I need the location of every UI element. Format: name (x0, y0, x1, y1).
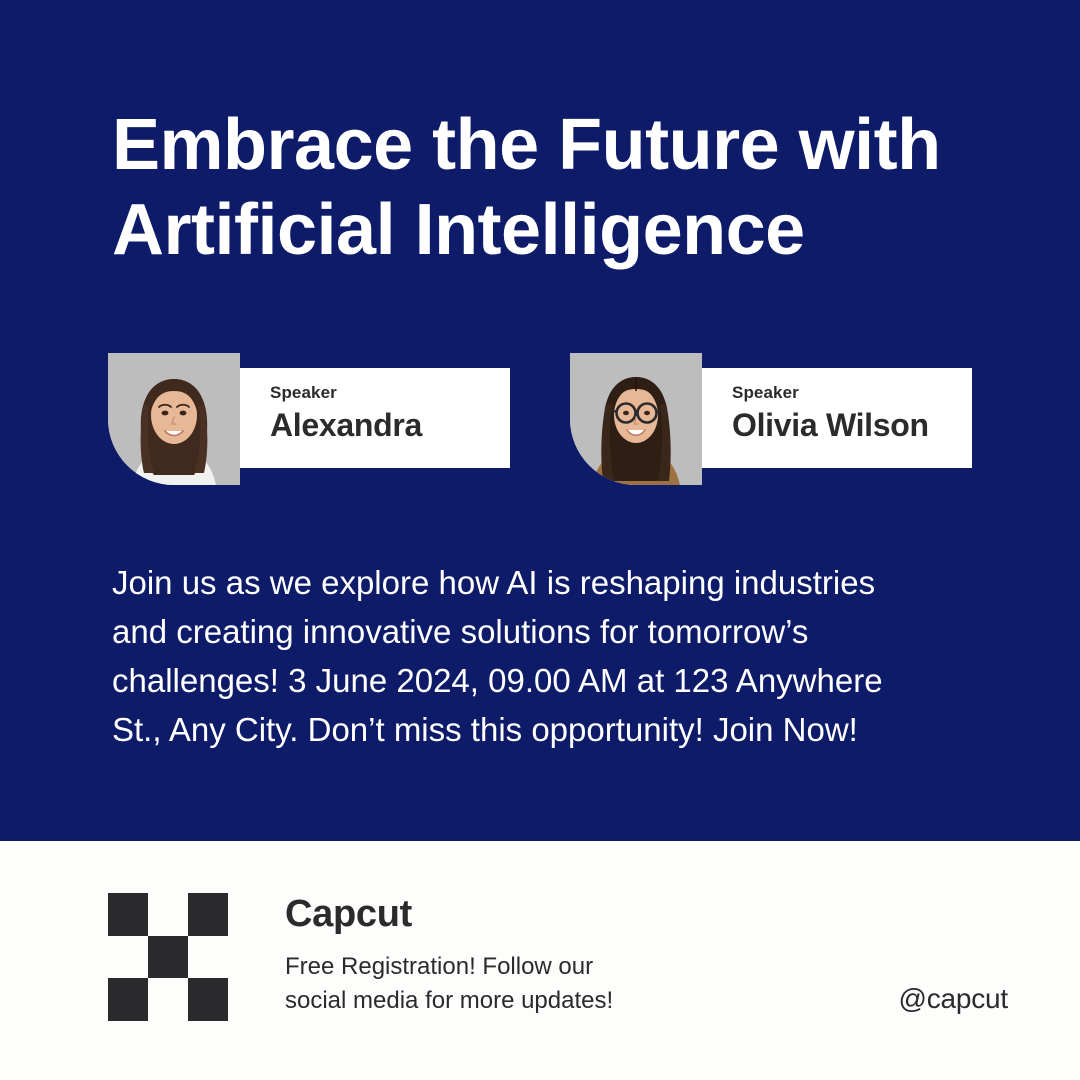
tagline-line-2: social media for more updates! (285, 984, 755, 1018)
logo-cell-6 (188, 936, 228, 979)
speaker-card-olivia-wilson: Speaker Olivia Wilson (570, 353, 972, 486)
speaker-info-panel-olivia-wilson: Speaker Olivia Wilson (700, 368, 972, 468)
checkerboard-x-logo-icon (108, 893, 228, 1021)
speaker-name: Alexandra (270, 407, 510, 444)
headline-line-1: Embrace the Future with (112, 103, 1012, 188)
logo-cell-5 (148, 936, 188, 979)
logo-cell-3 (188, 893, 228, 936)
brand-block: Capcut Free Registration! Follow our soc… (285, 893, 755, 1018)
avatar-alexandra (108, 353, 240, 485)
logo-cell-7 (108, 978, 148, 1021)
logo-cell-9 (188, 978, 228, 1021)
event-poster: Embrace the Future with Artificial Intel… (0, 0, 1080, 1080)
logo-cell-8 (148, 978, 188, 1021)
tagline-line-1: Free Registration! Follow our (285, 950, 755, 984)
speaker-name: Olivia Wilson (732, 407, 972, 444)
page-title: Embrace the Future with Artificial Intel… (112, 103, 1012, 273)
speaker-card-alexandra: Speaker Alexandra (108, 353, 510, 486)
social-handle[interactable]: @capcut (898, 983, 1008, 1015)
speaker-list: Speaker Alexandra (0, 353, 1080, 493)
description-line-1: Join us as we explore how AI is reshapin… (112, 558, 992, 607)
description-line-3: challenges! 3 June 2024, 09.00 AM at 123… (112, 656, 992, 705)
speaker-role-label: Speaker (270, 384, 510, 403)
footer-bar: Capcut Free Registration! Follow our soc… (0, 841, 1080, 1080)
avatar-olivia-wilson (570, 353, 702, 485)
event-description: Join us as we explore how AI is reshapin… (112, 558, 992, 754)
brand-tagline: Free Registration! Follow our social med… (285, 950, 755, 1018)
brand-name: Capcut (285, 893, 755, 936)
speaker-info-panel-alexandra: Speaker Alexandra (238, 368, 510, 468)
description-line-2: and creating innovative solutions for to… (112, 607, 992, 656)
speaker-role-label: Speaker (732, 384, 972, 403)
description-line-4: St., Any City. Don’t miss this opportuni… (112, 705, 992, 754)
logo-cell-1 (108, 893, 148, 936)
logo-cell-4 (108, 936, 148, 979)
headline-line-2: Artificial Intelligence (112, 188, 1012, 273)
logo-cell-2 (148, 893, 188, 936)
